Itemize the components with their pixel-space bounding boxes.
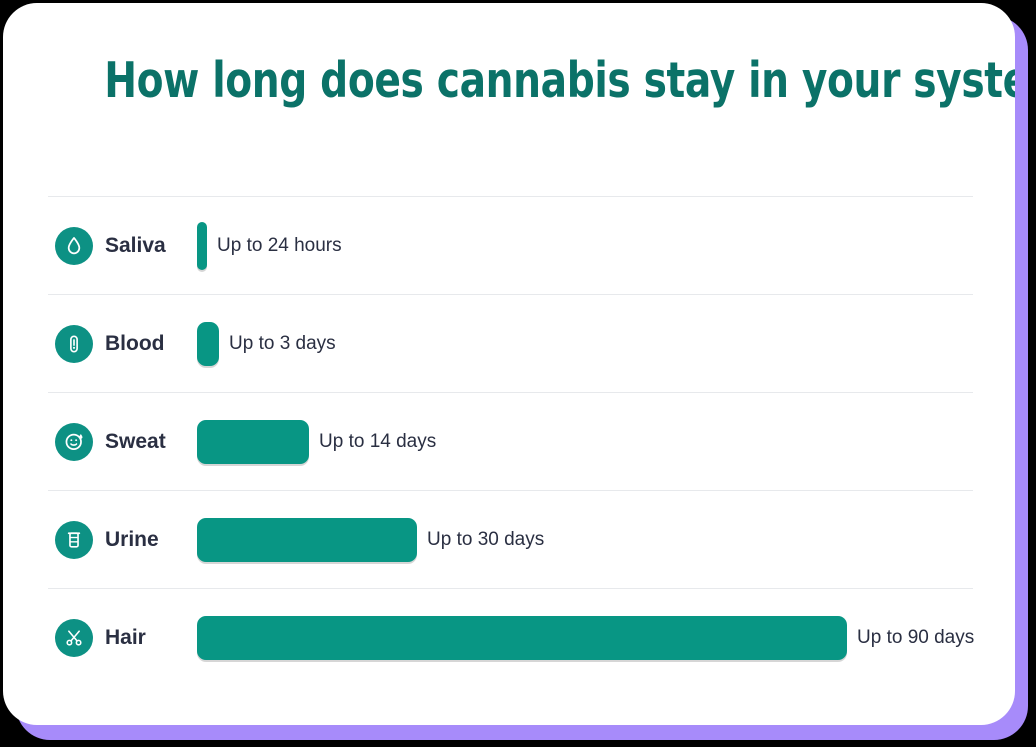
- bar-area: Up to 14 days: [197, 420, 973, 464]
- bar-blood: [197, 322, 219, 366]
- bar-sweat: [197, 420, 309, 464]
- bar-value-urine: Up to 30 days: [427, 529, 544, 551]
- bar-value-sweat: Up to 14 days: [319, 431, 436, 453]
- page-title: How long does cannabis stay in your syst…: [104, 55, 914, 108]
- bar-hair: [197, 616, 847, 660]
- bar-value-hair: Up to 90 days: [857, 627, 974, 649]
- row-label-saliva: Saliva: [105, 234, 197, 258]
- table-row: Blood Up to 3 days: [48, 295, 973, 392]
- bar-saliva: [197, 222, 207, 270]
- bar-value-blood: Up to 3 days: [229, 333, 336, 355]
- table-row: Urine Up to 30 days: [48, 491, 973, 588]
- row-label-urine: Urine: [105, 528, 197, 552]
- table-row: Saliva Up to 24 hours: [48, 197, 973, 294]
- substance-rows-list: Saliva Up to 24 hours: [48, 196, 973, 686]
- infographic-card: How long does cannabis stay in your syst…: [3, 3, 1015, 725]
- row-label-blood: Blood: [105, 332, 197, 356]
- water-droplet-icon: [55, 227, 93, 265]
- bar-urine: [197, 518, 417, 562]
- row-label-hair: Hair: [105, 626, 197, 650]
- specimen-cup-icon: [55, 521, 93, 559]
- bar-value-saliva: Up to 24 hours: [217, 235, 342, 257]
- blood-vial-icon: [55, 325, 93, 363]
- scissors-icon: [55, 619, 93, 657]
- sweating-face-icon: [55, 423, 93, 461]
- table-row: Hair Up to 90 days: [48, 589, 973, 686]
- row-label-sweat: Sweat: [105, 430, 197, 454]
- table-row: Sweat Up to 14 days: [48, 393, 973, 490]
- infographic-stage: How long does cannabis stay in your syst…: [0, 0, 1036, 747]
- bar-area: Up to 90 days: [197, 616, 973, 660]
- bar-area: Up to 30 days: [197, 518, 973, 562]
- bar-area: Up to 3 days: [197, 322, 973, 366]
- bar-area: Up to 24 hours: [197, 222, 973, 270]
